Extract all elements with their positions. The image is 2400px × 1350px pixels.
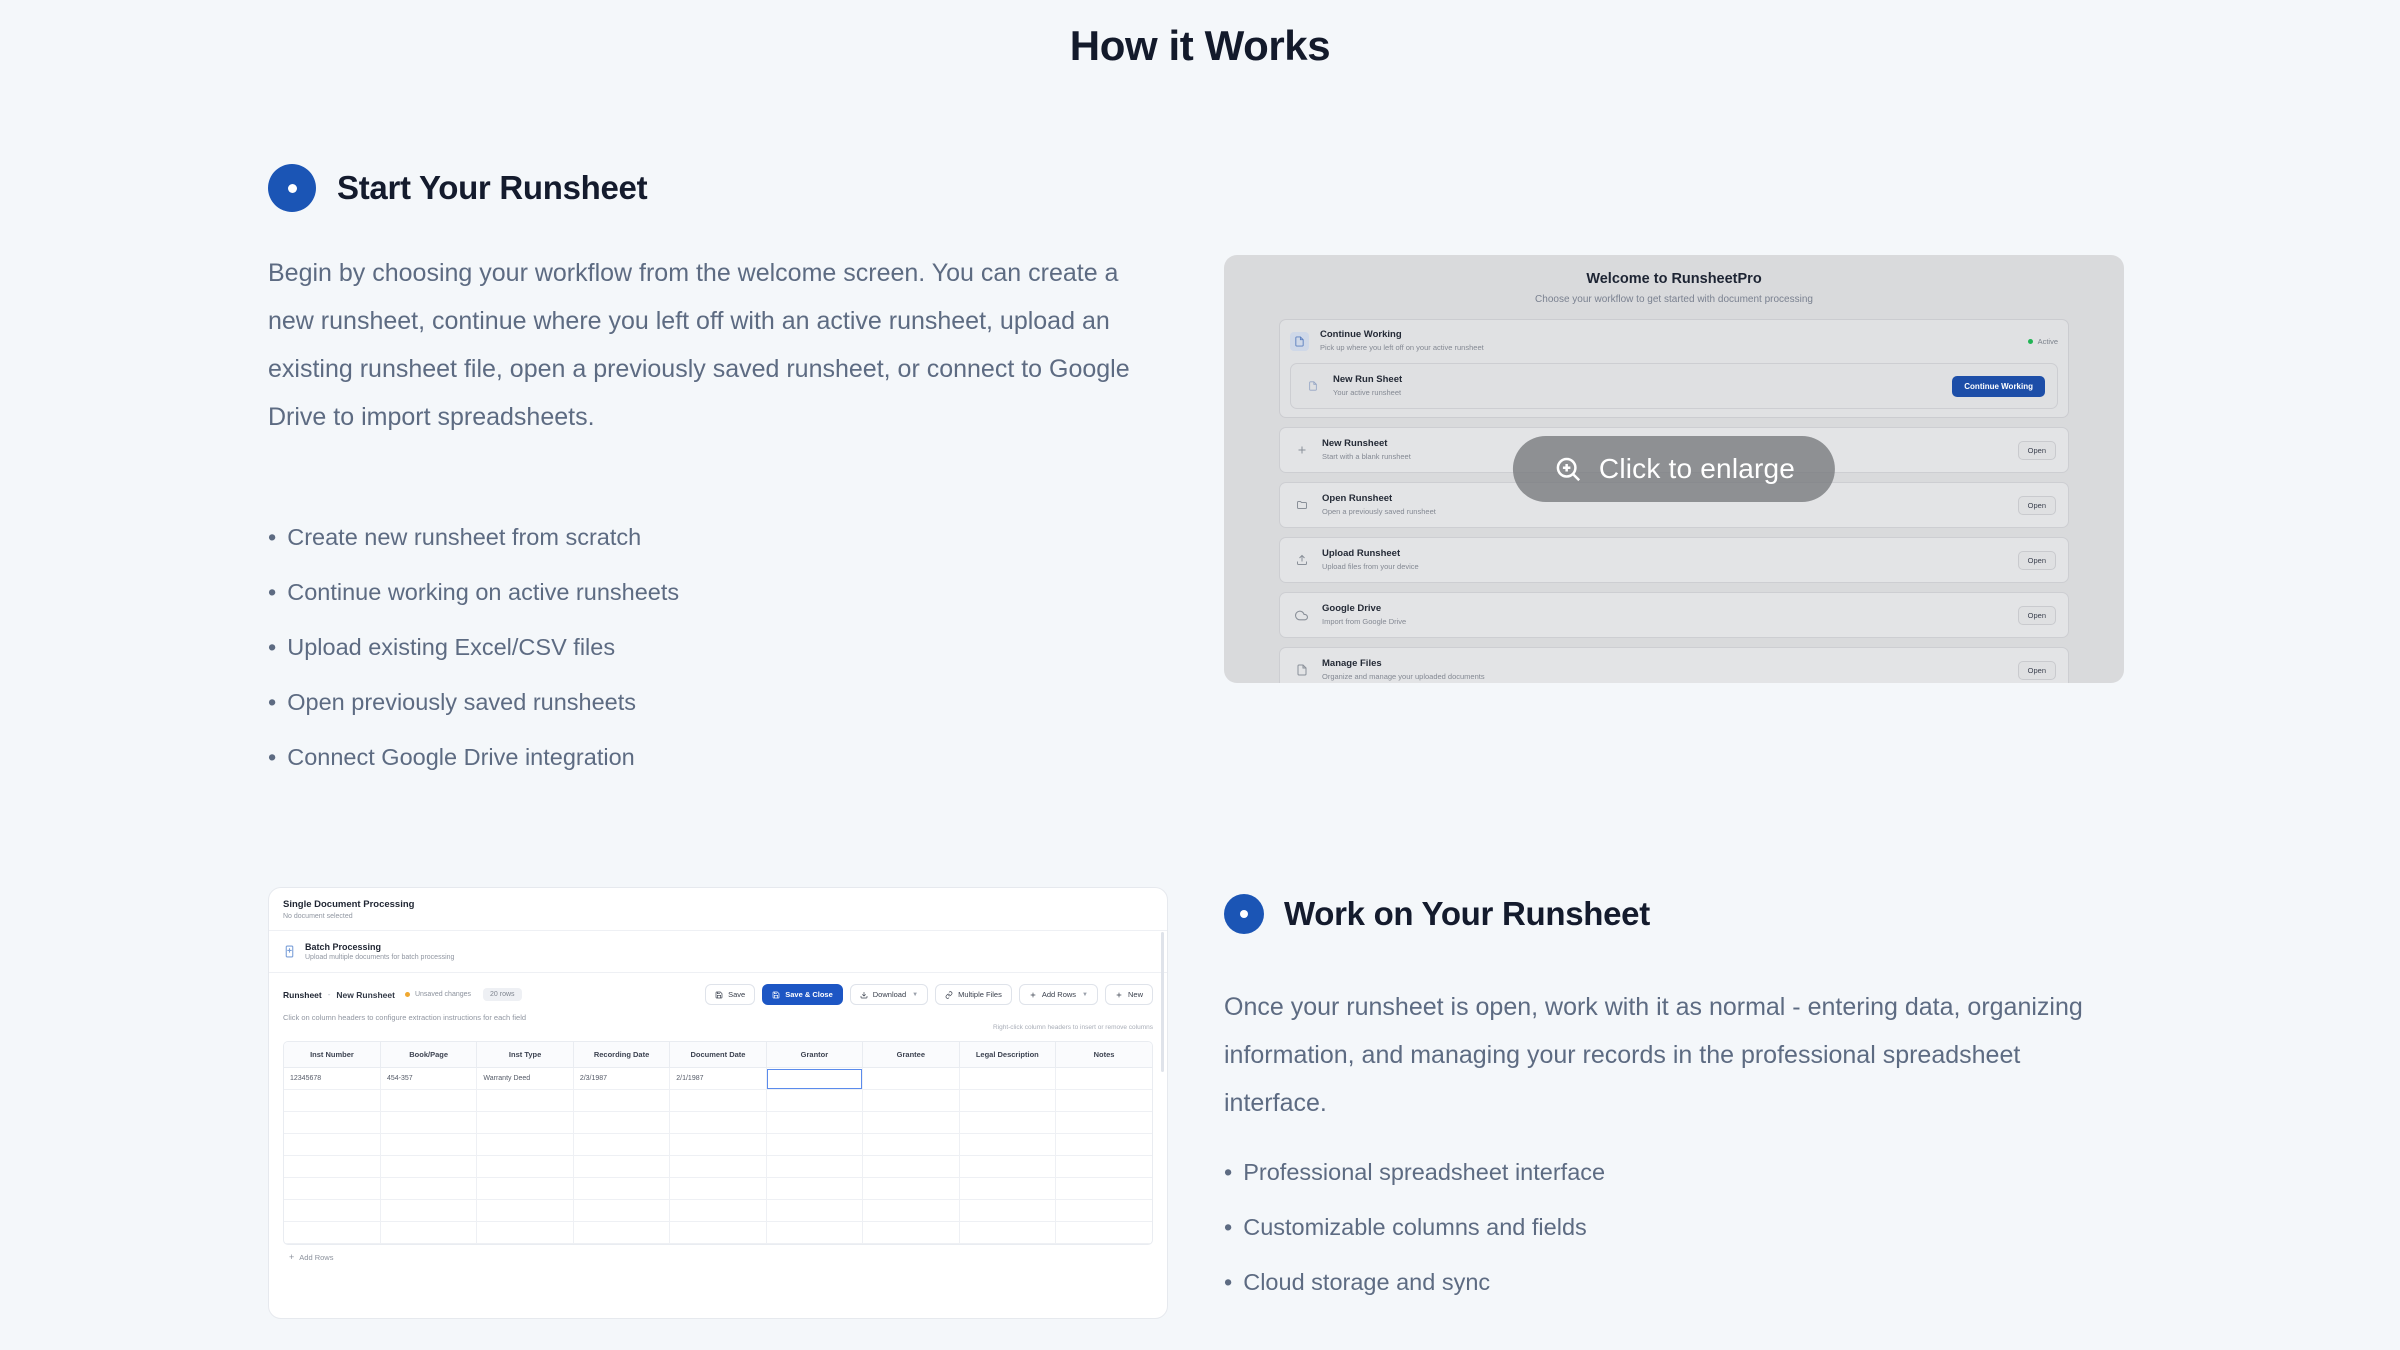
- add-rows-label: Add Rows: [1042, 990, 1076, 999]
- new-button[interactable]: New: [1105, 984, 1153, 1005]
- plus-icon: [1029, 991, 1037, 999]
- plus-icon: [1115, 991, 1123, 999]
- active-runsheet-title: New Run Sheet: [1333, 373, 1952, 386]
- open-button[interactable]: Open: [2018, 551, 2056, 570]
- step-1-title: Start Your Runsheet: [337, 169, 647, 207]
- batch-processing-section[interactable]: Batch Processing Upload multiple documen…: [269, 931, 1167, 973]
- welcome-subtitle: Choose your workflow to get started with…: [1224, 294, 2124, 305]
- add-rows-button[interactable]: Add Rows ▼: [1019, 984, 1098, 1005]
- column-header-document-date[interactable]: Document Date: [670, 1042, 766, 1068]
- magnifier-plus-icon: [1553, 454, 1583, 484]
- workflow-row-upload-runsheet[interactable]: Upload Runsheet Upload files from your d…: [1279, 537, 2069, 583]
- status-badge-label: Active: [2038, 337, 2058, 346]
- open-button[interactable]: Open: [2018, 606, 2056, 625]
- column-header-book-page[interactable]: Book/Page: [380, 1042, 476, 1068]
- list-item: Connect Google Drive integration: [268, 730, 679, 785]
- list-item: Continue working on active runsheets: [268, 565, 679, 620]
- vertical-scrollbar[interactable]: [1161, 932, 1164, 1072]
- unsaved-changes-label: Unsaved changes: [415, 991, 471, 998]
- runsheet-grid[interactable]: Inst Number Book/Page Inst Type Recordin…: [283, 1041, 1153, 1245]
- click-to-enlarge-overlay[interactable]: Click to enlarge: [1513, 436, 1835, 502]
- open-button[interactable]: Open: [2018, 496, 2056, 515]
- chevron-down-icon: ▼: [1082, 992, 1088, 998]
- cell-grantor-selected[interactable]: [766, 1068, 862, 1090]
- save-and-close-button[interactable]: Save & Close: [762, 984, 843, 1005]
- table-row[interactable]: [284, 1178, 1152, 1200]
- table-row[interactable]: 12345678 454-357 Warranty Deed 2/3/1987 …: [284, 1068, 1152, 1090]
- column-header-recording-date[interactable]: Recording Date: [573, 1042, 669, 1068]
- step-dot-icon: [1224, 894, 1264, 934]
- step-dot-icon: [268, 164, 316, 212]
- row-description: Organize and manage your uploaded docume…: [1322, 671, 2018, 683]
- cell-document-date[interactable]: 2/1/1987: [670, 1068, 766, 1090]
- plus-icon: [1292, 441, 1311, 460]
- single-doc-status: No document selected: [283, 913, 1153, 920]
- page-title: How it Works: [0, 22, 2400, 70]
- cell-recording-date[interactable]: 2/3/1987: [573, 1068, 669, 1090]
- how-it-works-page: How it Works Start Your Runsheet Begin b…: [0, 0, 2400, 1350]
- row-description: Upload files from your device: [1322, 561, 2018, 573]
- row-count-badge: 20 rows: [483, 988, 522, 1001]
- active-runsheet-row[interactable]: New Run Sheet Your active runsheet Conti…: [1290, 363, 2058, 409]
- runsheet-toolbar: Runsheet - New Runsheet Unsaved changes …: [269, 973, 1167, 1010]
- open-button[interactable]: Open: [2018, 441, 2056, 460]
- table-row[interactable]: [284, 1156, 1152, 1178]
- workflow-row-google-drive[interactable]: Google Drive Import from Google Drive Op…: [1279, 592, 2069, 638]
- table-row[interactable]: [284, 1200, 1152, 1222]
- click-to-enlarge-label: Click to enlarge: [1599, 453, 1795, 485]
- breadcrumb-separator: -: [328, 990, 331, 999]
- cell-inst-type[interactable]: Warranty Deed: [477, 1068, 573, 1090]
- save-button[interactable]: Save: [705, 984, 755, 1005]
- step-1-bullet-list: Create new runsheet from scratch Continu…: [268, 510, 679, 785]
- continue-card-title: Continue Working: [1320, 328, 2028, 341]
- upload-icon: [1292, 551, 1311, 570]
- cell-grantee[interactable]: [863, 1068, 959, 1090]
- continue-working-button[interactable]: Continue Working: [1952, 376, 2045, 397]
- breadcrumb-root[interactable]: Runsheet: [283, 990, 322, 1000]
- single-document-processing-section: Single Document Processing No document s…: [269, 888, 1167, 931]
- row-description: Open a previously saved runsheet: [1322, 506, 2018, 518]
- cell-legal-description[interactable]: [959, 1068, 1055, 1090]
- table-row[interactable]: [284, 1134, 1152, 1156]
- row-title: Google Drive: [1322, 602, 2018, 615]
- save-icon: [715, 991, 723, 999]
- list-item: Upload existing Excel/CSV files: [268, 620, 679, 675]
- batch-description: Upload multiple documents for batch proc…: [305, 954, 454, 961]
- column-header-notes[interactable]: Notes: [1056, 1042, 1153, 1068]
- list-item: Create new runsheet from scratch: [268, 510, 679, 565]
- table-row[interactable]: [284, 1222, 1152, 1244]
- folder-icon: [1292, 496, 1311, 515]
- welcome-screenshot-thumbnail[interactable]: Welcome to RunsheetPro Choose your workf…: [1224, 255, 2124, 683]
- step-1-paragraph: Begin by choosing your workflow from the…: [268, 249, 1158, 441]
- list-item: Cloud storage and sync: [1224, 1255, 1605, 1310]
- list-item: Open previously saved runsheets: [268, 675, 679, 730]
- save-icon: [772, 991, 780, 999]
- table-header-row: Inst Number Book/Page Inst Type Recordin…: [284, 1042, 1152, 1068]
- list-item: Customizable columns and fields: [1224, 1200, 1605, 1255]
- column-header-grantor[interactable]: Grantor: [766, 1042, 862, 1068]
- unsaved-changes-badge: Unsaved changes: [405, 991, 471, 998]
- add-rows-footer-button[interactable]: + Add Rows: [269, 1245, 1167, 1262]
- status-badge: Active: [2028, 337, 2058, 346]
- new-button-label: New: [1128, 990, 1143, 999]
- add-rows-footer-label: Add Rows: [299, 1253, 333, 1262]
- chevron-down-icon: ▼: [912, 992, 918, 998]
- step-1-header: Start Your Runsheet: [268, 164, 647, 212]
- list-item: Professional spreadsheet interface: [1224, 1145, 1605, 1200]
- table-row[interactable]: [284, 1112, 1152, 1134]
- save-button-label: Save: [728, 990, 745, 999]
- batch-icon: [283, 945, 296, 958]
- step-2-bullet-list: Professional spreadsheet interface Custo…: [1224, 1145, 1605, 1310]
- files-icon: [945, 991, 953, 999]
- open-button[interactable]: Open: [2018, 661, 2056, 680]
- multiple-files-button[interactable]: Multiple Files: [935, 984, 1012, 1005]
- continue-card-description: Pick up where you left off on your activ…: [1320, 342, 2028, 354]
- active-runsheet-description: Your active runsheet: [1333, 387, 1952, 399]
- cell-notes[interactable]: [1056, 1068, 1153, 1090]
- breadcrumb: Runsheet - New Runsheet Unsaved changes …: [283, 988, 705, 1001]
- single-doc-title: Single Document Processing: [283, 899, 1153, 910]
- continue-working-card[interactable]: Continue Working Pick up where you left …: [1279, 319, 2069, 418]
- row-title: Upload Runsheet: [1322, 547, 2018, 560]
- save-and-close-label: Save & Close: [785, 990, 833, 999]
- cell-inst-number[interactable]: 12345678: [284, 1068, 380, 1090]
- download-button[interactable]: Download ▼: [850, 984, 928, 1005]
- column-header-inst-number[interactable]: Inst Number: [284, 1042, 380, 1068]
- step-2-title: Work on Your Runsheet: [1284, 895, 1650, 933]
- right-click-hint: Right-click column headers to insert or …: [269, 1022, 1167, 1037]
- step-2-header: Work on Your Runsheet: [1224, 894, 1650, 934]
- breadcrumb-current: New Runsheet: [336, 990, 395, 1000]
- document-icon: [1290, 332, 1309, 351]
- file-icon: [1292, 661, 1311, 680]
- column-header-inst-type[interactable]: Inst Type: [477, 1042, 573, 1068]
- multiple-files-label: Multiple Files: [958, 990, 1002, 999]
- download-button-label: Download: [873, 990, 906, 999]
- batch-title: Batch Processing: [305, 942, 454, 952]
- plus-icon: +: [289, 1252, 294, 1262]
- cell-book-page[interactable]: 454-357: [380, 1068, 476, 1090]
- cloud-icon: [1292, 606, 1311, 625]
- spreadsheet-screenshot-thumbnail[interactable]: Single Document Processing No document s…: [268, 887, 1168, 1319]
- row-title: Manage Files: [1322, 657, 2018, 670]
- workflow-row-manage-files[interactable]: Manage Files Organize and manage your up…: [1279, 647, 2069, 683]
- document-icon: [1303, 377, 1322, 396]
- welcome-title: Welcome to RunsheetPro: [1224, 271, 2124, 287]
- step-2-paragraph: Once your runsheet is open, work with it…: [1224, 983, 2104, 1127]
- column-header-grantee[interactable]: Grantee: [863, 1042, 959, 1068]
- column-header-legal-description[interactable]: Legal Description: [959, 1042, 1055, 1068]
- column-header-hint: Click on column headers to configure ext…: [269, 1010, 1167, 1022]
- download-icon: [860, 991, 868, 999]
- row-description: Import from Google Drive: [1322, 616, 2018, 628]
- table-row[interactable]: [284, 1090, 1152, 1112]
